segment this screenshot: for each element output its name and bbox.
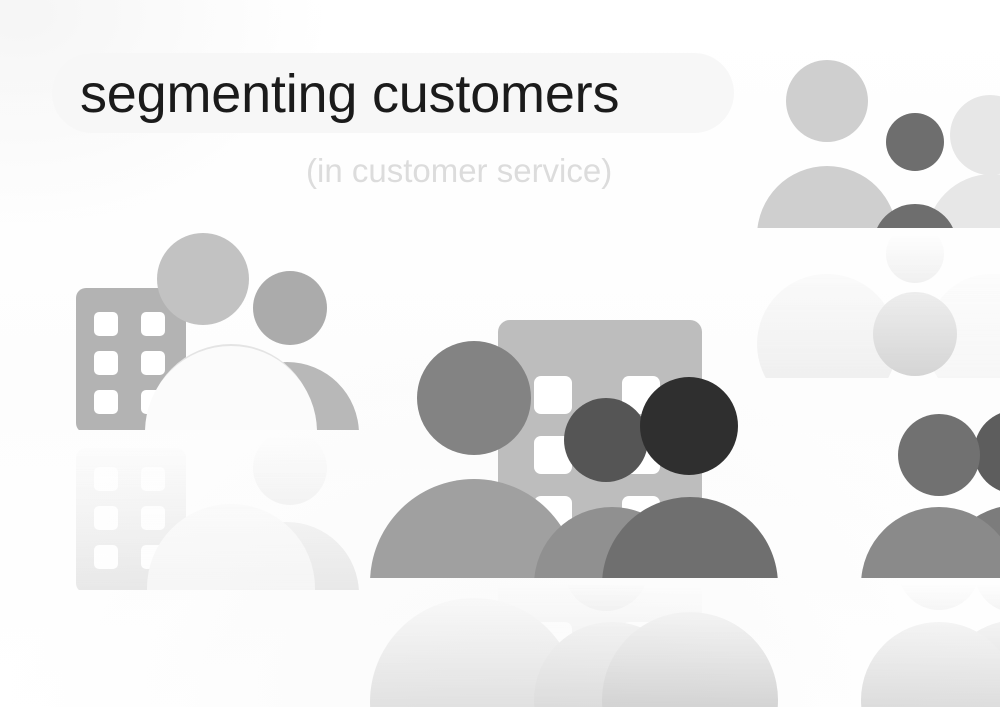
building-window <box>94 390 118 414</box>
reflected-person-body-front <box>861 622 1000 707</box>
page-subtitle: (in customer service) <box>306 152 612 190</box>
person-head-darkest <box>640 377 738 475</box>
reflected-person-head-back <box>974 578 1000 613</box>
right-group-reflection <box>860 578 1000 707</box>
left-group-reflection <box>60 430 380 590</box>
slide-canvas: segmenting customers (in customer servic… <box>0 0 1000 707</box>
person-head-gray <box>417 341 531 455</box>
person-pale-right-head <box>950 95 1000 175</box>
person-head-back-small <box>253 271 327 345</box>
person-large-light-body <box>757 166 897 228</box>
person-head-dark <box>564 398 648 482</box>
building-window <box>94 351 118 375</box>
reflected-building-window <box>141 467 165 491</box>
reflected-person-head-back-small <box>253 431 327 505</box>
person-dark-center-head <box>886 113 944 171</box>
center-group-above-water <box>360 300 820 578</box>
person-body-front <box>861 507 1000 578</box>
people-group-bottom-right <box>860 400 1000 707</box>
company-people-group-left <box>60 220 380 600</box>
building-window <box>141 351 165 375</box>
right-group-above-water <box>860 400 1000 578</box>
top-right-above-water <box>740 50 1000 228</box>
reflected-building-window <box>94 545 118 569</box>
reflected-building-window <box>94 467 118 491</box>
center-group-reflection <box>360 578 820 707</box>
reflected-dark-center-head <box>886 228 944 283</box>
person-head-front <box>898 414 980 496</box>
left-group-above-water <box>60 220 380 430</box>
person-head-back-large <box>157 233 249 325</box>
building-window <box>94 312 118 336</box>
reflected-building-window <box>94 506 118 530</box>
reflected-person-head-front <box>898 578 980 610</box>
reflected-dark-center-body <box>873 292 957 376</box>
person-large-light-head <box>786 60 868 142</box>
building-window <box>141 312 165 336</box>
reflected-building-window <box>141 506 165 530</box>
company-people-group-center <box>360 300 820 700</box>
page-title: segmenting customers <box>80 60 720 128</box>
building-window <box>534 376 572 414</box>
